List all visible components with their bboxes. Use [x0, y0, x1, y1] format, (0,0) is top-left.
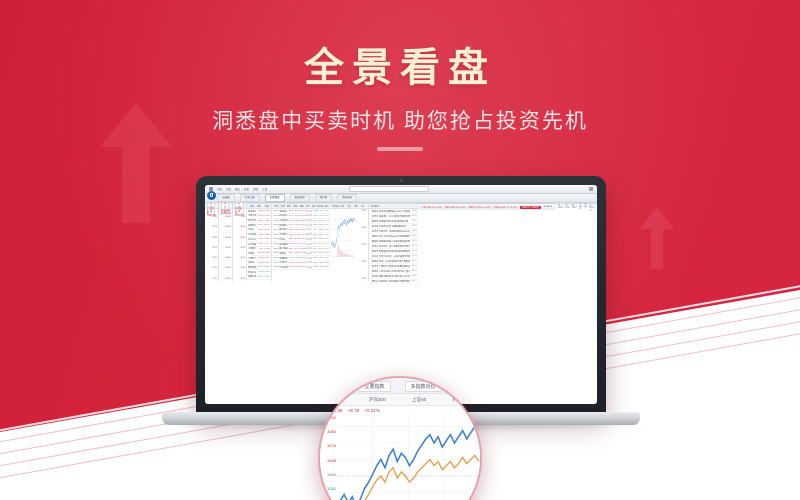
cell-8: 2.36 — [324, 266, 330, 268]
mag-axis-3: 3268 — [321, 459, 336, 463]
cell-1: 美的集团 — [279, 243, 288, 246]
cell-1: 平安银行 — [279, 233, 288, 236]
cell-8: 0.98 — [324, 262, 330, 264]
menu-item-0[interactable]: 系统 — [217, 187, 222, 191]
news-time: 09:26 — [412, 240, 417, 242]
cell-name: 浦发银行 — [248, 210, 258, 213]
status-time: 09:48:32 — [544, 206, 552, 208]
mini-chart-tab-0[interactable]: 分时 — [339, 205, 346, 208]
news-time: 09:30 — [412, 235, 417, 237]
news-time: 09:37 — [412, 225, 417, 227]
cell-name: 隆基绿能 — [248, 266, 258, 269]
toolbar-tab-4[interactable]: 排行榜 — [315, 194, 333, 202]
axis-label-5: 10320 — [220, 267, 231, 269]
axis-label-0: 3289 — [206, 216, 217, 218]
mini-price-axis: 3285 3270 3255 3240 3225 — [355, 209, 368, 281]
menu-item-5[interactable]: 工具 — [262, 187, 267, 191]
news-text: 【研报】券商看好银行板块估值修复行情 — [371, 220, 410, 223]
market-breadth-bar: 涨 2146 平 318 跌 1592 涨停 41 跌停 7 总成交 8012亿 — [555, 203, 597, 208]
mini-axis-0: 3285 — [356, 210, 367, 212]
news-panel: 实时资讯 【快讯】两市成交额突破8000亿元 北向资金净流入42亿09:48【公… — [369, 204, 419, 281]
magnified-line-chart — [337, 414, 480, 500]
promo-banner: 全景看盘 洞悉盘中买卖时机 助您抢占投资先机 系统 功能 报价 分析 资讯 工具 — [0, 0, 800, 500]
news-text: 【公告】中国平安：拟回购不超过100亿元公司股份 — [371, 230, 410, 233]
mag-quote-change: +6.78 — [348, 408, 360, 413]
chart-panel-row: 分时走势 多日分时 上证指数 3261.69 +6.78 +0.21% — [205, 203, 597, 281]
cell-8: 1.18 — [324, 229, 330, 231]
mini-chart-area: 3285 3270 3255 3240 3225 — [331, 209, 368, 281]
col-header-2[interactable]: 涨幅 — [263, 205, 270, 208]
page-subtitle: 洞悉盘中买卖时机 助您抢占投资先机 — [0, 105, 800, 135]
cell-name: 工商银行 — [248, 247, 258, 250]
magnifier-lens: 主要指数 多指数对比 指数 沪深300 上证50 科创50 3261.69 +6… — [318, 376, 482, 500]
cell-name: 东方财富 — [248, 243, 258, 246]
mini-axis-1: 3270 — [356, 227, 367, 229]
news-text: 【行业】光伏行业协会：Q4装机量预计创新高 — [371, 255, 410, 258]
breadth-item-2: 跌 1592 — [572, 204, 576, 209]
cell-change: -2.06% — [264, 276, 270, 278]
axis-label-6: 3211 — [206, 278, 217, 280]
mag-quote-percent: +0.21% — [364, 408, 380, 413]
news-time: 09:14 — [412, 255, 417, 257]
breadth-item-0: 涨 2146 — [558, 204, 562, 209]
news-text: 【解读】政策面持续发力 A股有望延续反弹 — [371, 240, 410, 243]
app-menubar: 系统 功能 报价 分析 资讯 工具 — [205, 185, 597, 194]
status-badge: 连接正常 行情延时 — [520, 206, 541, 209]
mag-tab-1[interactable]: 多指数对比 — [405, 381, 442, 392]
news-time: 09:01 — [412, 270, 417, 272]
chart-area: 3289 3276 3263 3250 3237 3224 3211 — [205, 215, 218, 281]
app-body: 分时走势 多日分时 上证指数 3261.69 +6.78 +0.21% — [205, 203, 597, 404]
axis-label-2: 10500 — [220, 237, 231, 239]
cell-change: +1.52% — [264, 257, 270, 259]
status-item-0: 上证 3261.69 +0.21% — [422, 206, 442, 209]
cell-8: 1.52 — [324, 224, 330, 226]
quote-table-body: 600000浦发银行10.38+0.95+10.02%142.6万32082.1… — [272, 209, 330, 270]
chart-area: 10620 10560 10500 10440 10380 10320 1026… — [219, 215, 232, 281]
mini-axis-2: 3255 — [356, 244, 367, 246]
axis-label-4: 3237 — [206, 257, 217, 259]
axis-label-3: 10440 — [220, 247, 231, 249]
cell-1: 五粮液 — [279, 252, 288, 255]
webcam-icon — [400, 179, 403, 182]
mini-intraday-chart — [331, 209, 355, 281]
bottom-row: 分时成交 分时 日K 周K 月K — [331, 203, 419, 281]
news-time: 09:18 — [412, 250, 417, 252]
news-time: 09:05 — [412, 265, 417, 267]
chart-panel-chinext: 分时走势 创业板指 2073.58 +9.12 +0.44% — [233, 203, 247, 281]
cell-change: -0.63% — [264, 266, 270, 268]
menu-item-4[interactable]: 资讯 — [253, 187, 258, 191]
cell-8: 0.91 — [324, 257, 330, 259]
cell-change: +10.02% — [264, 210, 270, 212]
news-text: 【公告】浦发银行：前三季度净利润同比增长12.6% — [371, 215, 410, 218]
news-time: 09:09 — [412, 260, 417, 262]
col-header-8[interactable]: 量比 — [323, 205, 329, 208]
axis-label-2: 2082 — [234, 237, 245, 239]
cell-1: 招商银行 — [279, 224, 288, 227]
cell-change: +2.39% — [264, 248, 270, 250]
news-time: 09:33 — [412, 230, 417, 232]
news-text: 【快讯】央行今日开展3000亿元逆回购操作 — [371, 235, 410, 238]
news-time: 08:52 — [412, 280, 417, 282]
cell-name: 宁德时代 — [248, 257, 258, 260]
magnified-quote: 3261.69 +6.78 +0.21% — [320, 406, 480, 414]
cell-name: 中信证券 — [248, 233, 258, 236]
cell-change: +1.05% — [264, 262, 270, 264]
news-time: 09:45 — [412, 215, 417, 217]
cell-1: 宁德时代 — [279, 261, 288, 264]
laptop-screen: 系统 功能 报价 分析 资讯 工具 自选股 沪深大盘 全景看盘 — [205, 185, 597, 404]
cell-change: +1.96% — [264, 252, 270, 254]
axis-label-6: 10260 — [220, 278, 231, 280]
cell-1: 格力电器 — [279, 247, 288, 250]
price-axis: 2110 2096 2082 2068 2054 2040 2026 — [233, 215, 246, 281]
brand-logo-icon — [207, 191, 216, 200]
news-text: 【市场】两融余额连续五日回升至1.68万亿 — [371, 275, 410, 278]
mag-axis-2: 3276 — [321, 444, 336, 448]
price-axis: 3289 3276 3263 3250 3237 3224 3211 — [205, 215, 218, 281]
axis-label-5: 2040 — [234, 267, 245, 269]
magnified-chart-area: 3292 3284 3276 3268 3260 3252 3244 3236 … — [320, 414, 480, 500]
rank-table-panel: 名称 现价 涨幅 浦发银行10.38+10.02%中国平安48.26+7.41%… — [247, 204, 272, 281]
cell-change: +3.88% — [264, 234, 270, 236]
cell-change: +5.63% — [264, 220, 270, 222]
search-input[interactable] — [349, 186, 429, 193]
cell-name: 紫金矿业 — [248, 271, 258, 274]
quote-table-panel: 代码 名称 现价 涨跌 涨幅 总手 现手 换手率 量比 — [272, 204, 330, 281]
magnified-subtabs: 指数 沪深300 上证50 科创50 — [320, 394, 480, 406]
mini-chart-tab-1[interactable]: 日K — [346, 205, 353, 208]
cell-change: +3.40% — [264, 238, 270, 240]
axis-label-2: 3263 — [206, 237, 217, 239]
mini-chart-panel: 分时成交 分时 日K 周K 月K — [331, 204, 369, 281]
trading-application: 系统 功能 报价 分析 资讯 工具 自选股 沪深大盘 全景看盘 — [205, 185, 597, 404]
mini-chart-tab-3[interactable]: 月K — [360, 205, 367, 208]
status-item-3: 沪深300 3842.17 +0.18% — [493, 206, 516, 209]
mag-subtab-3[interactable]: 科创50 — [453, 397, 467, 403]
axis-label-4: 10380 — [220, 257, 231, 259]
menu-item-1[interactable]: 功能 — [226, 187, 231, 191]
mag-axis-4: 3260 — [321, 473, 336, 477]
mag-subtab-0[interactable]: 指数 — [333, 397, 342, 403]
menu-item-3[interactable]: 分析 — [244, 187, 249, 191]
page-title: 全景看盘 — [0, 46, 800, 91]
axis-label-1: 3276 — [206, 226, 217, 228]
cell-8: 1.07 — [324, 248, 330, 250]
magnified-tabs: 主要指数 多指数对比 — [320, 378, 480, 394]
cell-change: +4.15% — [264, 229, 270, 231]
cell-name: 招商银行 — [248, 224, 258, 227]
toolbar-tab-3[interactable]: 板块监测 — [290, 194, 310, 202]
news-text: 【快讯】人民币兑美元中间价调升86个基点 — [371, 270, 410, 273]
cell-1: 贵州茅台 — [279, 228, 288, 231]
cell-8: 2.04 — [324, 215, 330, 217]
mag-axis-0: 3292 — [321, 416, 336, 420]
news-text: 【观点】外资机构上调中国股市评级至增持 — [371, 280, 410, 283]
magnified-price-axis: 3292 3284 3276 3268 3260 3252 3244 3236 … — [320, 414, 337, 500]
news-text: 【公告】贵州茅台：第三季度营收同比增长16.8% — [371, 245, 410, 248]
cell-name: 中国平安 — [248, 214, 258, 217]
toolbar-tab-2[interactable]: 全景看盘 — [265, 194, 285, 202]
breadth-item-4: 跌停 7 — [585, 202, 587, 210]
cell-name: 比亚迪 — [248, 261, 258, 264]
status-bar: 上证 3261.69 +0.21% 深证 10482.33 -0.20% 创业板… — [419, 203, 555, 210]
mini-chart-title: 分时成交 — [332, 205, 339, 208]
news-text: 【公告】宁德时代与多家车企签署长期供货协议 — [371, 265, 410, 268]
axis-label-3: 2068 — [234, 247, 245, 249]
headline-block: 全景看盘 洞悉盘中买卖时机 助您抢占投资先机 — [0, 46, 800, 151]
cell-name: 五粮液 — [248, 252, 258, 255]
cell-8: 1.03 — [324, 252, 330, 254]
cell-change: +4.92% — [264, 224, 270, 226]
cell-1: 万科A — [279, 238, 288, 241]
col-header-0[interactable]: 名称 — [248, 205, 255, 208]
menu-item-2[interactable]: 报价 — [235, 187, 240, 191]
cell-1: 海康威视 — [279, 257, 288, 260]
toolbar-tab-0[interactable]: 自选股 — [217, 194, 235, 202]
news-title: 实时资讯 — [371, 205, 379, 208]
breadth-item-3: 涨停 41 — [579, 202, 581, 210]
news-time: 08:56 — [412, 275, 417, 277]
cell-change: +2.97% — [264, 243, 270, 245]
up-arrow-icon-small — [640, 207, 674, 269]
table-row[interactable]: 海螺水泥24.37-2.06% — [247, 275, 271, 280]
cell-1: 中信证券 — [279, 219, 288, 222]
news-time: 09:22 — [412, 245, 417, 247]
toolbar-tab-5[interactable]: 资金流向 — [337, 194, 357, 202]
news-text: 【研报】机构：关注高股息红利资产配置机会 — [371, 260, 410, 263]
axis-label-1: 10560 — [220, 226, 231, 228]
cell-name: 万科A — [248, 228, 258, 231]
price-axis: 10620 10560 10500 10440 10380 10320 1026… — [219, 215, 232, 281]
mag-axis-5: 3252 — [321, 487, 336, 491]
cell-8: 1.41 — [324, 238, 330, 240]
mini-chart-tab-2[interactable]: 周K — [353, 205, 360, 208]
cell-1: 民生银行 — [279, 214, 288, 217]
table-row[interactable]: 300059东方财富15.82+0.46+2.97%120.4万15821.12… — [272, 266, 330, 271]
mag-subtab-1[interactable]: 沪深300 — [369, 397, 386, 403]
axis-label-1: 2096 — [234, 226, 245, 228]
cell-8: 1.96 — [324, 234, 330, 236]
laptop-mockup: 系统 功能 报价 分析 资讯 工具 自选股 沪深大盘 全景看盘 — [196, 176, 606, 438]
settings-icon[interactable] — [589, 187, 593, 191]
axis-label-3: 3250 — [206, 247, 217, 249]
headline-divider — [377, 147, 423, 151]
cell-8: 1.12 — [324, 243, 330, 245]
chart-panel-shenzhen: 分时走势 技术分析 深证成指 10482.33 -21.04 -0.20% — [219, 203, 233, 281]
axis-label-0: 2110 — [234, 216, 245, 218]
cell-name: 京东方A — [248, 238, 258, 241]
chart-area: 2110 2096 2082 2068 2054 2040 2026 — [233, 215, 246, 281]
magnified-content: 主要指数 多指数对比 指数 沪深300 上证50 科创50 3261.69 +6… — [320, 378, 480, 500]
news-time: 09:41 — [412, 220, 417, 222]
cell-8: 3.25 — [324, 210, 330, 212]
cell-8: 1.73 — [324, 220, 330, 222]
chart-panel-shanghai: 分时走势 多日分时 上证指数 3261.69 +6.78 +0.21% — [205, 203, 219, 281]
cell-name: 海螺水泥 — [248, 275, 258, 278]
list-item[interactable]: 【观点】外资机构上调中国股市评级至增持08:52 — [369, 279, 419, 284]
mini-axis-4: 3225 — [356, 278, 367, 280]
cell-change: +7.41% — [264, 215, 270, 217]
breadth-item-1: 平 318 — [566, 204, 569, 209]
news-text: 【快讯】两市成交额突破8000亿元 北向资金净流入42亿 — [371, 210, 410, 213]
axis-label-5: 3224 — [206, 267, 217, 269]
axis-label-6: 2026 — [234, 278, 245, 280]
cell-name: 贵州茅台 — [248, 219, 258, 222]
toolbar-tab-1[interactable]: 沪深大盘 — [240, 194, 260, 202]
status-item-2: 创业板 2073.58 +0.44% — [468, 206, 490, 209]
cell-1: 浦发银行 — [279, 210, 288, 213]
cell-change: -1.24% — [264, 271, 270, 273]
status-item-1: 深证 10482.33 -0.20% — [445, 206, 466, 209]
news-text: 【市场】沪指高开高走 金融股集体拉升 — [371, 225, 410, 228]
mag-quote-price: 3261.69 — [326, 408, 343, 413]
axis-label-0: 10620 — [220, 216, 231, 218]
news-text: 【快讯】新能源板块早盘走弱 锂电池概念回调 — [371, 250, 410, 253]
axis-label-4: 2054 — [234, 257, 245, 259]
news-time: 09:48 — [412, 210, 417, 212]
col-header-1[interactable]: 现价 — [255, 205, 262, 208]
cell-1: 东方财富 — [279, 266, 288, 269]
app-toolbar: 自选股 沪深大盘 全景看盘 板块监测 排行榜 资金流向 — [205, 194, 597, 203]
mag-subtab-2[interactable]: 上证50 — [412, 397, 426, 403]
rank-table-body: 浦发银行10.38+10.02%中国平安48.26+7.41%贵州茅台1682.… — [247, 209, 271, 279]
mag-axis-1: 3284 — [321, 430, 336, 434]
mag-tab-0[interactable]: 主要指数 — [358, 381, 390, 392]
tables-row: 名称 现价 涨幅 浦发银行10.38+10.02%中国平安48.26+7.41%… — [247, 203, 331, 281]
news-list: 【快讯】两市成交额突破8000亿元 北向资金净流入42亿09:48【公告】浦发银… — [369, 209, 419, 284]
mini-axis-3: 3240 — [356, 261, 367, 263]
